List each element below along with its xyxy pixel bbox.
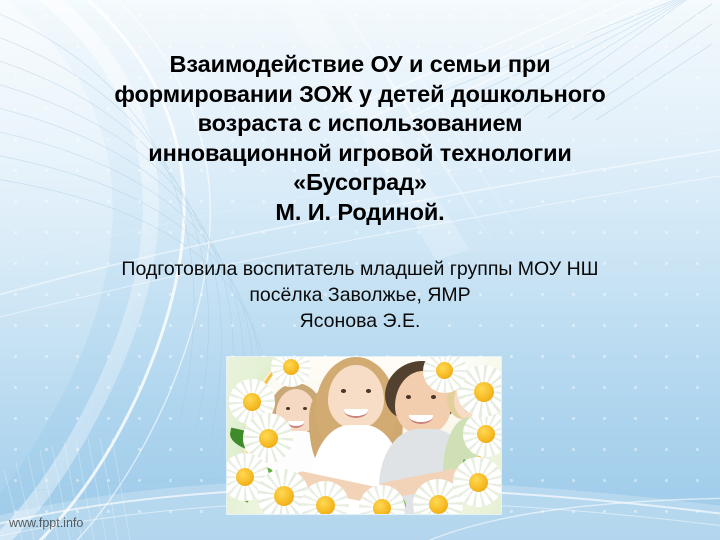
watermark-url: www.fppt.info [9, 516, 83, 530]
title-line-3: возраста с использованием [34, 109, 686, 139]
title-line-4: инновационной игровой технологии [34, 139, 686, 169]
title-line-5: «Бусоград» [34, 168, 686, 198]
presentation-slide: Взаимодействие ОУ и семьи при формирован… [0, 0, 720, 540]
title-line-6: М. И. Родиной. [34, 198, 686, 228]
title-line-1: Взаимодействие ОУ и семьи при [34, 50, 686, 80]
title-line-2: формировании ЗОЖ у детей дошкольного [34, 80, 686, 110]
subtitle-line-1: Подготовила воспитатель младшей группы М… [34, 256, 686, 282]
family-photo [227, 357, 501, 514]
subtitle-line-2: посёлка Заволжье, ЯМР [34, 282, 686, 308]
slide-subtitle: Подготовила воспитатель младшей группы М… [34, 256, 686, 334]
slide-title: Взаимодействие ОУ и семьи при формирован… [34, 50, 686, 227]
subtitle-line-3: Ясонова Э.Е. [34, 308, 686, 334]
